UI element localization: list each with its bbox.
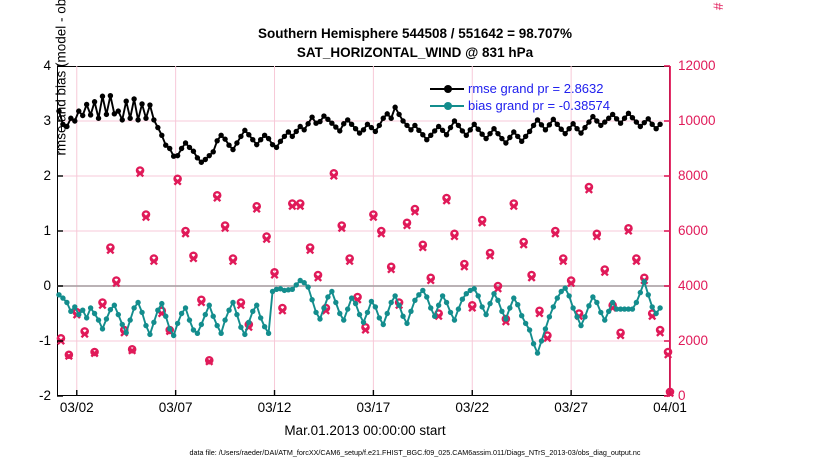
legend-label-rmse: rmse grand pr = 2.8632 <box>468 80 604 97</box>
x-tick-03/07: 03/07 <box>141 400 211 415</box>
y-tick-left-3: 3 <box>5 113 51 128</box>
x-tick-03/12: 03/12 <box>240 400 310 415</box>
legend-item-rmse: rmse grand pr = 2.8632 <box>430 80 610 97</box>
legend-item-bias: bias grand pr = -0.38574 <box>430 97 610 114</box>
figure-canvas: Southern Hemisphere 544508 / 551642 = 98… <box>0 0 830 470</box>
y-tick-left-2: 2 <box>5 168 51 183</box>
x-tick-04/01: 04/01 <box>635 400 705 415</box>
x-tick-03/27: 03/27 <box>536 400 606 415</box>
y-tick-right-4000: 4000 <box>678 278 742 293</box>
y-axis-left-label: rmse and bias (model - observation) <box>54 0 69 213</box>
data-file-footer: data file: /Users/raeder/DAI/ATM_forcXX/… <box>0 448 830 457</box>
chart-title-line-1: Southern Hemisphere 544508 / 551642 = 98… <box>0 24 830 43</box>
plot-area <box>57 66 670 396</box>
x-tick-03/02: 03/02 <box>42 400 112 415</box>
legend: rmse grand pr = 2.8632 bias grand pr = -… <box>430 80 610 114</box>
y-tick-left--1: -1 <box>5 333 51 348</box>
legend-swatch-rmse <box>430 82 464 96</box>
y-axis-right-label: # of obs: o=possible; x=assimilated <box>711 0 726 70</box>
y-tick-right-2000: 2000 <box>678 333 742 348</box>
y-tick-right-8000: 8000 <box>678 168 742 183</box>
x-axis-label: Mar.01.2013 00:00:00 start <box>0 423 730 438</box>
y-tick-right-10000: 10000 <box>678 113 742 128</box>
chart-title: Southern Hemisphere 544508 / 551642 = 98… <box>0 24 830 62</box>
x-tick-03/17: 03/17 <box>338 400 408 415</box>
y-tick-right-12000: 12000 <box>678 58 742 73</box>
y-tick-right-6000: 6000 <box>678 223 742 238</box>
x-tick-03/22: 03/22 <box>437 400 507 415</box>
y-tick-left-4: 4 <box>5 58 51 73</box>
y-tick-left-1: 1 <box>5 223 51 238</box>
legend-swatch-bias <box>430 99 464 113</box>
y-tick-left-0: 0 <box>5 278 51 293</box>
legend-label-bias: bias grand pr = -0.38574 <box>468 97 610 114</box>
